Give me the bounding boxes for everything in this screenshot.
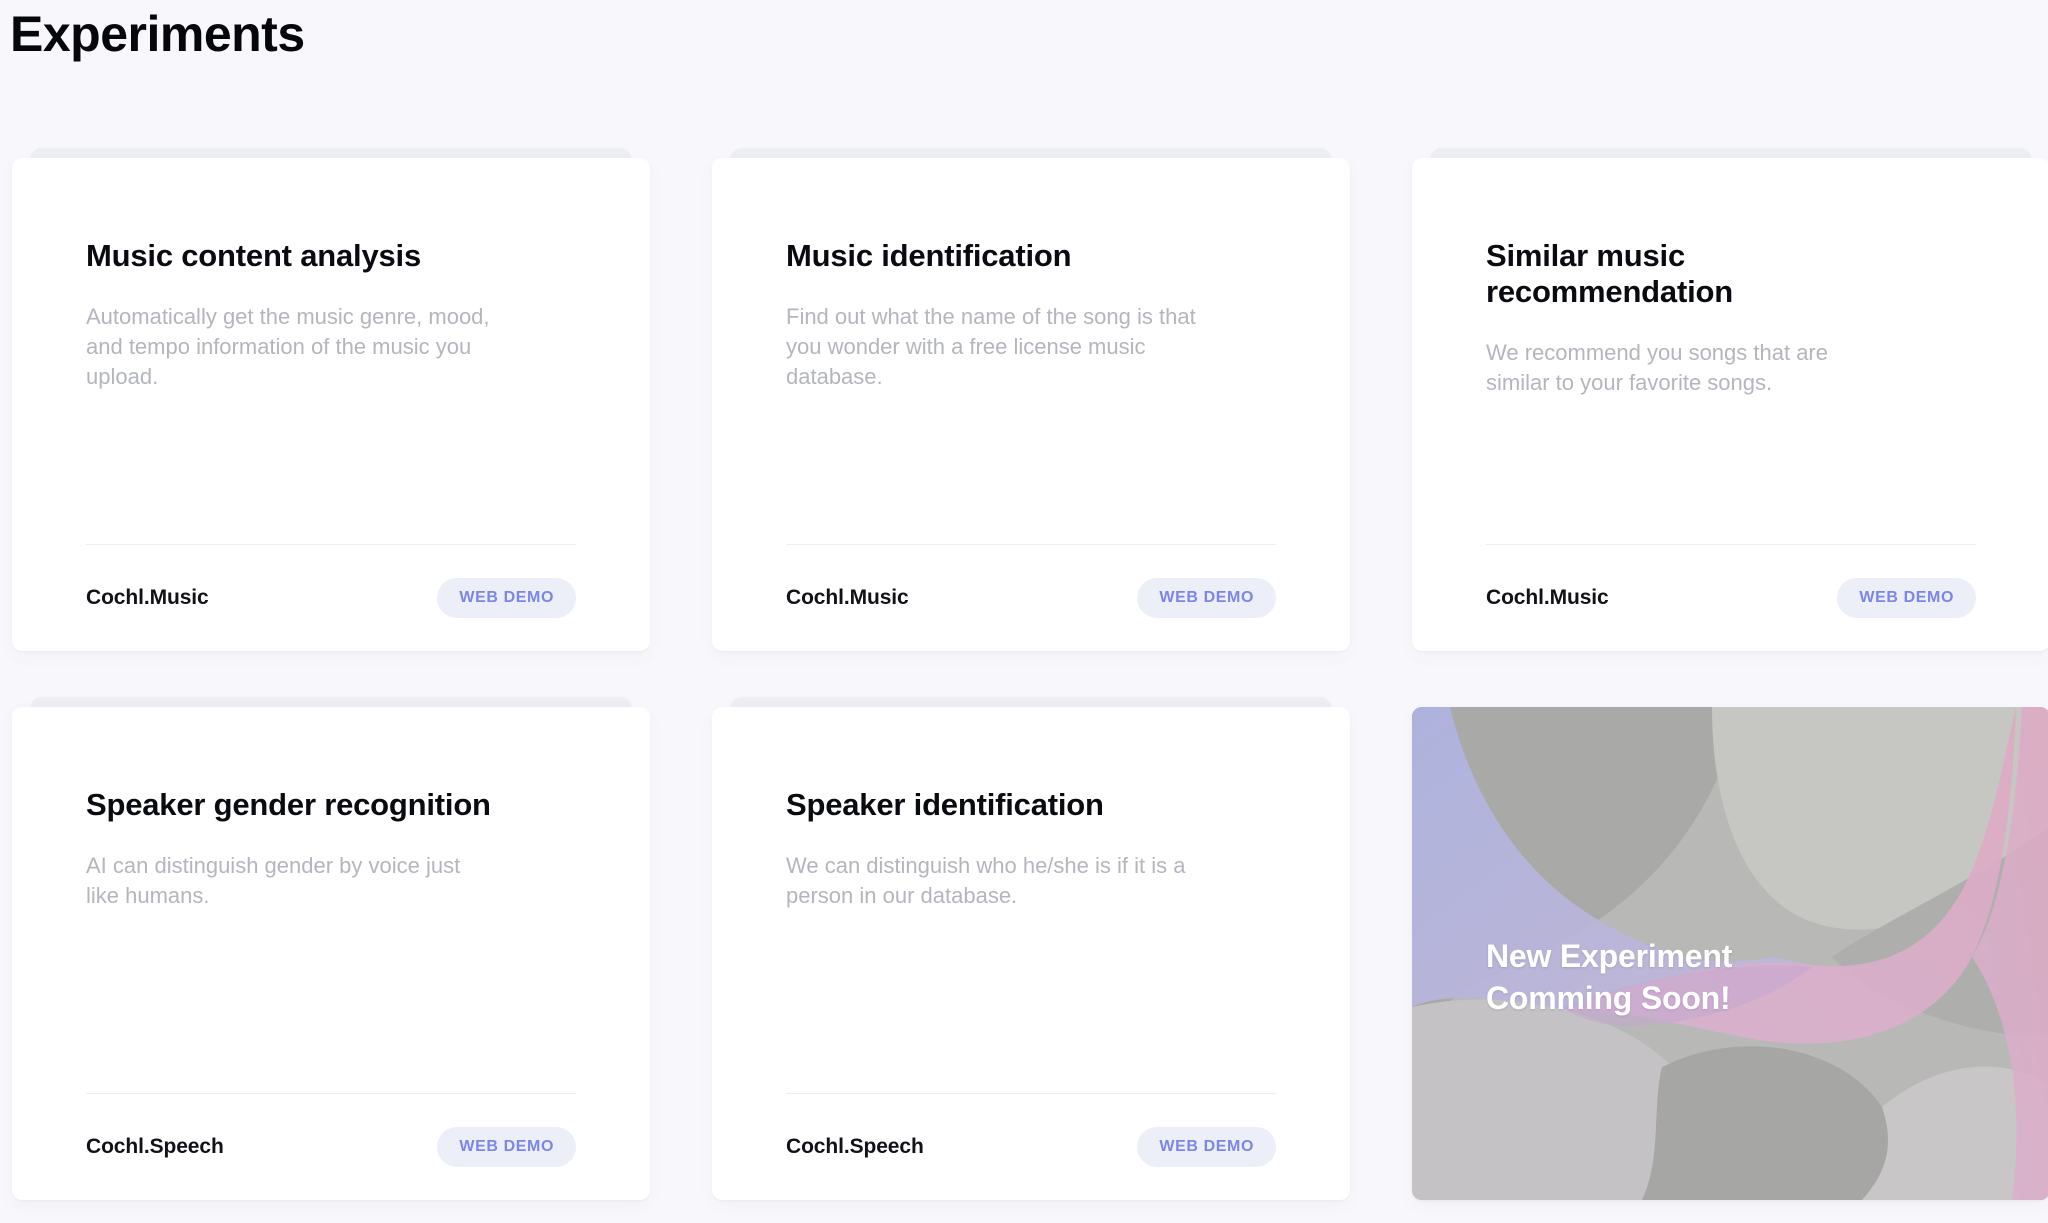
experiment-card[interactable]: Music identification Find out what the n… [712,148,1350,651]
experiment-card[interactable]: Similar music recommendation We recommen… [1412,148,2048,651]
page-title: Experiments [0,0,2048,64]
experiment-card-body[interactable]: Speaker identification We can distinguis… [712,707,1350,1200]
web-demo-badge[interactable]: WEB DEMO [1137,1127,1276,1167]
experiment-product-label: Cochl.Speech [86,1135,224,1159]
experiment-card-body[interactable]: Similar music recommendation We recommen… [1412,158,2048,651]
coming-soon-line-1: New Experiment [1486,935,1732,977]
experiment-card[interactable]: Speaker identification We can distinguis… [712,697,1350,1200]
experiment-card-body[interactable]: Music content analysis Automatically get… [12,158,650,651]
experiment-title: Speaker gender recognition [86,787,516,823]
card-spacer [86,911,576,1093]
card-spacer [786,911,1276,1093]
web-demo-badge[interactable]: WEB DEMO [437,578,576,618]
card-spacer [86,392,576,544]
coming-soon-card: New Experiment Comming Soon! [1412,697,2048,1200]
web-demo-badge[interactable]: WEB DEMO [1137,578,1276,618]
card-footer: Cochl.Music WEB DEMO [786,545,1276,651]
experiment-product-label: Cochl.Speech [786,1135,924,1159]
experiment-card-body[interactable]: Music identification Find out what the n… [712,158,1350,651]
web-demo-badge[interactable]: WEB DEMO [437,1127,576,1167]
experiment-card[interactable]: Music content analysis Automatically get… [12,148,650,651]
experiment-description: AI can distinguish gender by voice just … [86,851,496,911]
experiment-description: Automatically get the music genre, mood,… [86,302,496,392]
experiment-description: We recommend you songs that are similar … [1486,338,1896,398]
card-footer: Cochl.Speech WEB DEMO [86,1094,576,1200]
coming-soon-line-2: Comming Soon! [1486,977,1732,1019]
experiment-description: We can distinguish who he/she is if it i… [786,851,1196,911]
coming-soon-text: New Experiment Comming Soon! [1486,935,1732,1019]
coming-soon-card-body: New Experiment Comming Soon! [1412,707,2048,1200]
experiment-product-label: Cochl.Music [786,586,909,610]
experiment-product-label: Cochl.Music [1486,586,1609,610]
card-footer: Cochl.Music WEB DEMO [1486,545,1976,651]
card-spacer [786,392,1276,544]
experiment-title: Music identification [786,238,1216,274]
experiment-description: Find out what the name of the song is th… [786,302,1196,392]
web-demo-badge[interactable]: WEB DEMO [1837,578,1976,618]
experiment-title: Speaker identification [786,787,1216,823]
experiment-title: Music content analysis [86,238,516,274]
card-spacer [1486,398,1976,544]
experiment-product-label: Cochl.Music [86,586,209,610]
experiments-page: Experiments Music content analysis Autom… [0,0,2048,1223]
card-footer: Cochl.Music WEB DEMO [86,545,576,651]
experiment-title: Similar music recommendation [1486,238,1916,310]
experiment-card[interactable]: Speaker gender recognition AI can distin… [12,697,650,1200]
card-footer: Cochl.Speech WEB DEMO [786,1094,1276,1200]
experiments-grid: Music content analysis Automatically get… [12,148,2036,1200]
experiment-card-body[interactable]: Speaker gender recognition AI can distin… [12,707,650,1200]
